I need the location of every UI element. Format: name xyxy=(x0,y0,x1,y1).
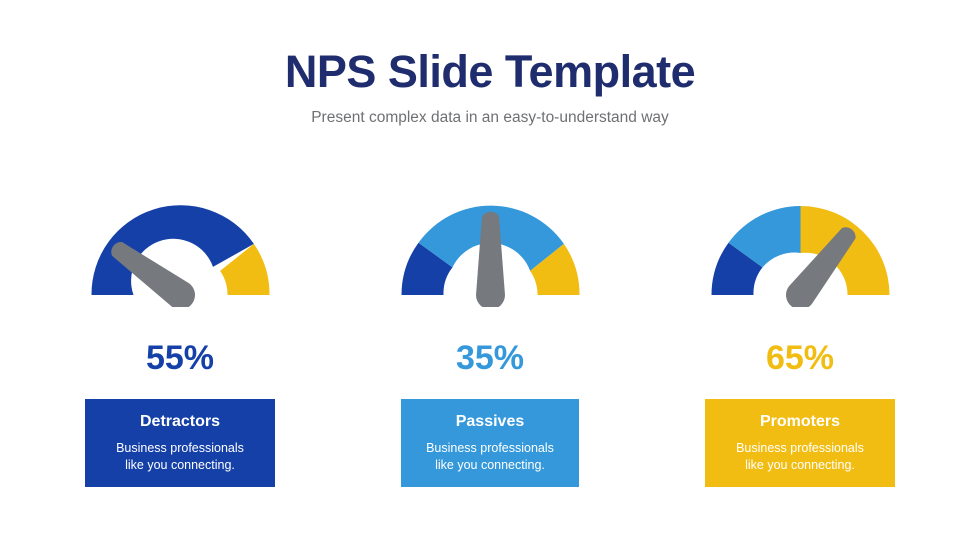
legend-card-description-line2: like you connecting. xyxy=(705,457,895,474)
legend-card-description-line1: Business professionals xyxy=(705,440,895,457)
gauge-chart-promoters xyxy=(693,185,908,307)
legend-card-description: Business professionals like you connecti… xyxy=(705,440,895,474)
legend-card-description-line1: Business professionals xyxy=(401,440,579,457)
gauge-column-promoters: 65% Promoters Business professionals lik… xyxy=(645,185,955,487)
gauge-columns: 55% Detractors Business professionals li… xyxy=(0,185,980,487)
slide-canvas: NPS Slide Template Present complex data … xyxy=(0,0,980,551)
page-subtitle: Present complex data in an easy-to-under… xyxy=(0,109,980,127)
gauge-value-passives: 35% xyxy=(456,341,524,375)
legend-card-promoters[interactable]: Promoters Business professionals like yo… xyxy=(705,399,895,487)
gauge-svg xyxy=(693,185,908,307)
legend-card-detractors[interactable]: Detractors Business professionals like y… xyxy=(85,399,275,487)
page-title: NPS Slide Template xyxy=(0,48,980,95)
gauge-svg xyxy=(73,185,288,307)
legend-card-title: Promoters xyxy=(705,412,895,431)
slide-header: NPS Slide Template Present complex data … xyxy=(0,0,980,127)
gauge-value-promoters: 65% xyxy=(766,341,834,375)
gauge-chart-passives xyxy=(383,185,598,307)
legend-card-description: Business professionals like you connecti… xyxy=(401,440,579,474)
legend-card-description-line2: like you connecting. xyxy=(85,457,275,474)
gauge-svg xyxy=(383,185,598,307)
legend-card-description-line2: like you connecting. xyxy=(401,457,579,474)
legend-card-description: Business professionals like you connecti… xyxy=(85,440,275,474)
legend-card-title: Passives xyxy=(401,412,579,431)
gauge-column-detractors: 55% Detractors Business professionals li… xyxy=(25,185,335,487)
legend-card-description-line1: Business professionals xyxy=(85,440,275,457)
legend-card-title: Detractors xyxy=(85,412,275,431)
gauge-chart-detractors xyxy=(73,185,288,307)
legend-card-passives[interactable]: Passives Business professionals like you… xyxy=(401,399,579,487)
gauge-column-passives: 35% Passives Business professionals like… xyxy=(335,185,645,487)
gauge-value-detractors: 55% xyxy=(146,341,214,375)
